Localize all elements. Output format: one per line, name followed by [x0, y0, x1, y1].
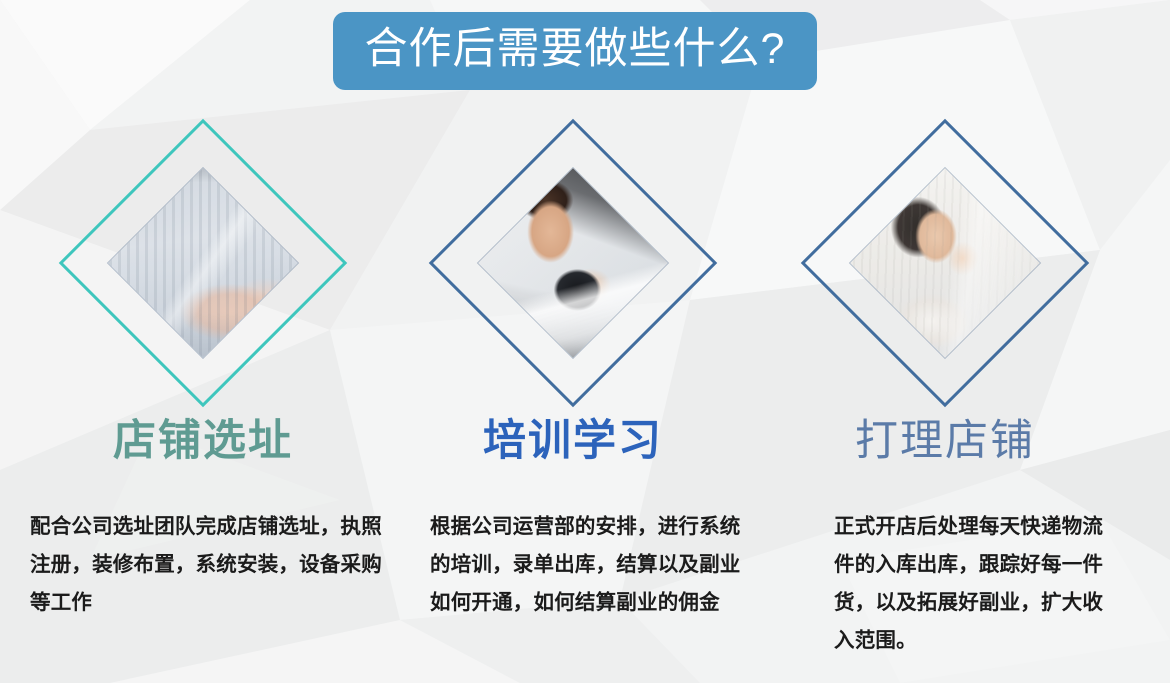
card-body-1: 配合公司选址团队完成店铺选址，执照注册，装修布置，系统安装，设备采购等工作 — [30, 508, 382, 622]
card-body-3: 正式开店后处理每天快递物流件的入库出库，跟踪好每一件货，以及拓展好副业，扩大收入… — [834, 508, 1104, 660]
infographic-slide: 合作后需要做些什么? 店铺选址 配合公司选址团队完成店铺选址，执照注册，装修布置… — [0, 0, 1170, 683]
card-heading-3: 打理店铺 — [750, 418, 1140, 465]
card-heading-1: 店铺选址 — [8, 418, 398, 465]
card-manage-store: 打理店铺 正式开店后处理每天快递物流件的入库出库，跟踪好每一件货，以及拓展好副业… — [750, 0, 1140, 683]
card-store-location: 店铺选址 配合公司选址团队完成店铺选址，执照注册，装修布置，系统安装，设备采购等… — [8, 0, 398, 683]
card-body-2: 根据公司运营部的安排，进行系统的培训，录单出库，结算以及副业如何开通，如何结算副… — [430, 508, 742, 622]
card-heading-2: 培训学习 — [378, 418, 768, 465]
card-training: 培训学习 根据公司运营部的安排，进行系统的培训，录单出库，结算以及副业如何开通，… — [378, 0, 768, 683]
